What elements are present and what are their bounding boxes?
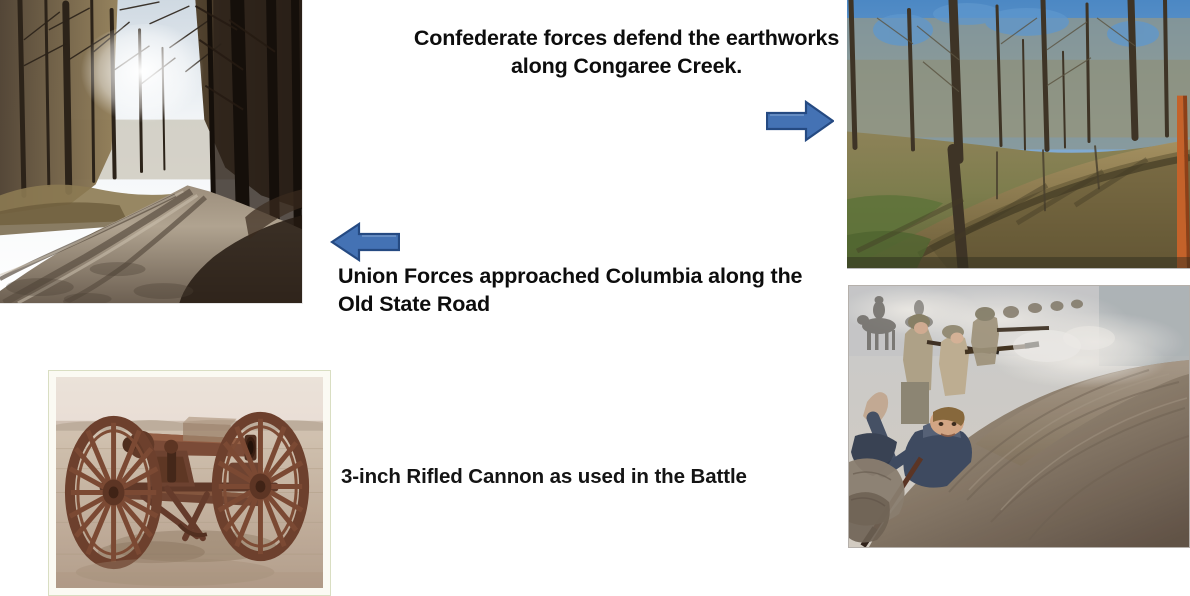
- photo-battle-painting[interactable]: [848, 285, 1190, 548]
- photo-cannon-inner: [56, 377, 323, 588]
- photo-earthworks[interactable]: [847, 0, 1190, 269]
- cannon-illustration: [56, 377, 323, 588]
- ghost-residual-text: [345, 500, 825, 534]
- arrow-right-shape: [766, 100, 834, 142]
- photo-old-state-road[interactable]: [0, 0, 303, 304]
- arrow-left-shape: [330, 222, 400, 262]
- arrow-left-icon: [330, 222, 400, 262]
- caption-rifled-cannon: 3-inch Rifled Cannon as used in the Batt…: [341, 464, 841, 491]
- photo-cannon[interactable]: [48, 370, 331, 596]
- caption-confederate-defend: Confederate forces defend the earthworks…: [399, 25, 854, 81]
- old-state-road-illustration: [0, 0, 302, 303]
- earthworks-illustration: [847, 0, 1190, 268]
- arrow-right-icon: [766, 100, 834, 142]
- slide-canvas: Confederate forces defend the earthworks…: [0, 0, 1190, 596]
- battle-painting-illustration: [849, 286, 1189, 547]
- caption-union-approach: Union Forces approached Columbia along t…: [338, 263, 838, 319]
